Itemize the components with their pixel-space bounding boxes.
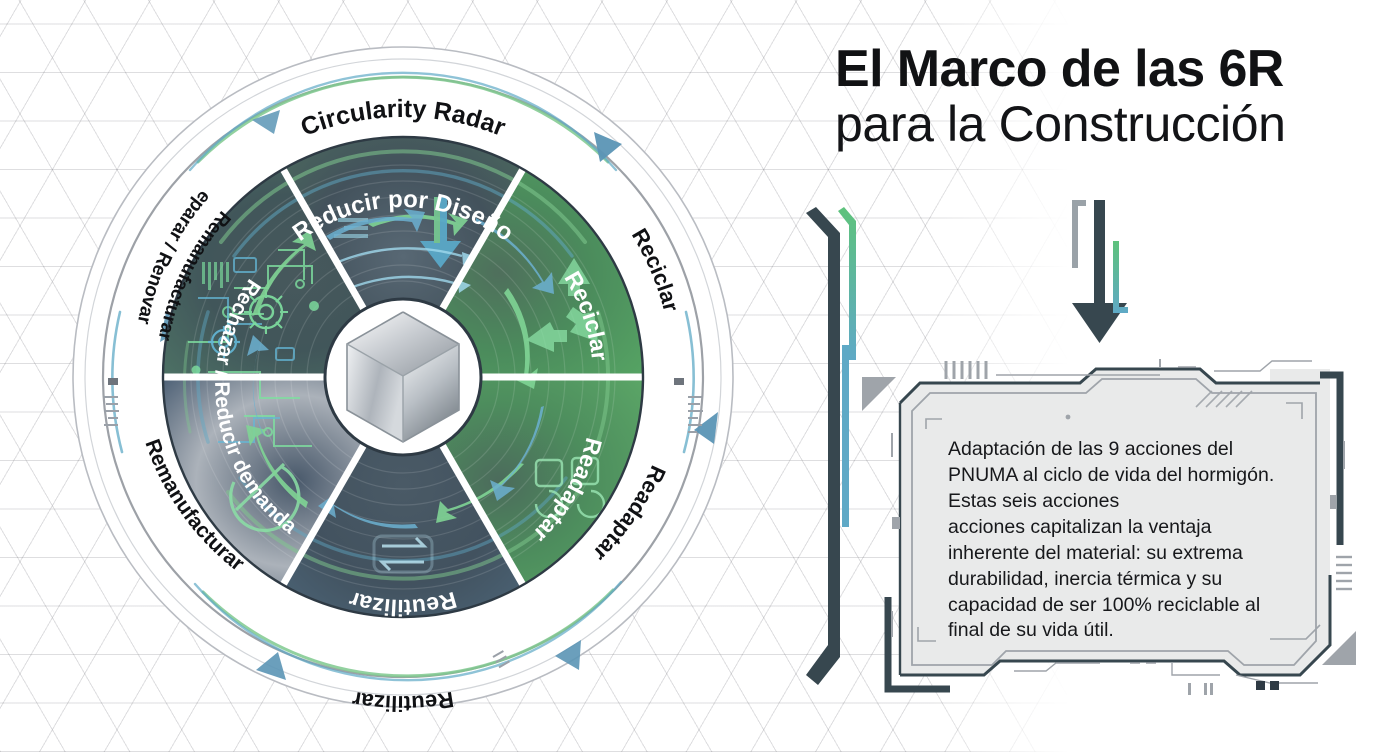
title-line-1: El Marco de las 6R xyxy=(835,42,1395,96)
panel-line-6: durabilidad, inercia térmica y su xyxy=(948,567,1308,593)
page-title: El Marco de las 6R para la Construcción xyxy=(835,42,1395,151)
panel-line-5: inherente del material: su extrema xyxy=(948,541,1308,567)
panel-line-8: final de su vida útil. xyxy=(948,618,1308,644)
panel-line-7: capacidad de ser 100% reciclable al xyxy=(948,593,1308,619)
panel-line-1: Adaptación de las 9 acciones del xyxy=(948,437,1308,463)
left-hud-bracket-top xyxy=(806,207,856,360)
down-arrow-icon xyxy=(1072,200,1128,343)
left-hud-bracket-bottom xyxy=(806,345,849,685)
panel-line-2: PNUMA al ciclo de vida del hormigón. xyxy=(948,463,1308,489)
right-column: El Marco de las 6R para la Construcción xyxy=(800,0,1398,752)
infographic-canvas: Reducir por Diseño Reciclar Readaptar Re… xyxy=(0,0,1398,752)
panel-line-3: Estas seis acciones xyxy=(948,489,1308,515)
panel-body-text: Adaptación de las 9 acciones del PNUMA a… xyxy=(948,437,1308,644)
panel-line-4: acciones capitalizan la ventaja xyxy=(948,515,1308,541)
panel-corner-triangle-tl xyxy=(862,377,896,411)
title-line-2: para la Construcción xyxy=(835,98,1395,151)
circularity-wheel[interactable]: Reducir por Diseño Reciclar Readaptar Re… xyxy=(38,12,768,742)
